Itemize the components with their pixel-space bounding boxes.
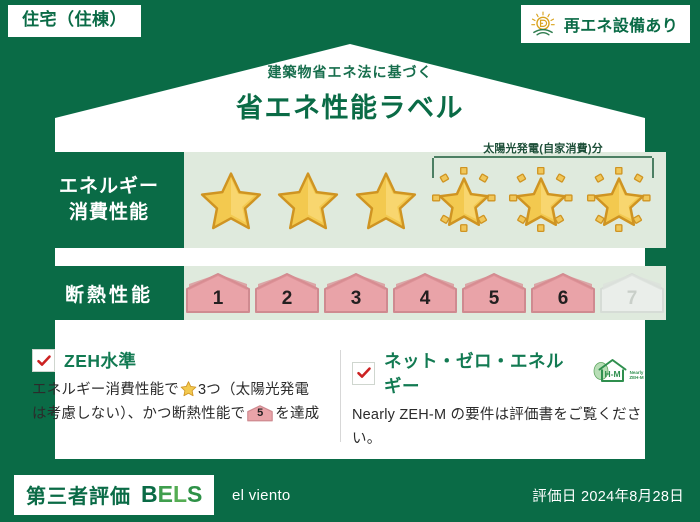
renewable-equipment-badge: 再エネ設備あり bbox=[521, 5, 690, 43]
check-nze-body: Nearly ZEH-M の要件は評価書をご覧ください。 bbox=[352, 404, 648, 452]
bels-wordmark: BELS bbox=[141, 481, 202, 508]
bels-certification-mark: 第三者評価 BELS bbox=[14, 475, 214, 515]
bels-letter-e: E bbox=[158, 481, 173, 507]
check-icon bbox=[356, 365, 372, 381]
housing-type-tag: 住宅（住棟） bbox=[8, 5, 141, 37]
label-footer: 第三者評価 BELS el viento 評価日 2024年8月28日 bbox=[0, 465, 700, 522]
star-icon-3 bbox=[351, 165, 421, 235]
checkbox-zeh-level[interactable] bbox=[32, 349, 55, 372]
insulation-grade-2: 2 bbox=[254, 272, 320, 314]
zehm-logo-sub2: ZEH-M bbox=[629, 375, 643, 380]
energy-header-line1: エネルギー bbox=[59, 174, 159, 200]
insulation-grade-6: 6 bbox=[530, 272, 596, 314]
insulation-performance-row: 断熱性能 1 2 3 4 bbox=[34, 266, 666, 320]
renewable-badge-label: 再エネ設備あり bbox=[564, 12, 678, 36]
bels-jp-label: 第三者評価 bbox=[26, 480, 131, 509]
inline-star-icon bbox=[180, 380, 197, 397]
star-icon-solar-4 bbox=[429, 165, 499, 235]
page-title: 省エネ性能ラベル bbox=[0, 86, 700, 125]
star-icon-solar-5 bbox=[506, 165, 576, 235]
star-icon-2 bbox=[273, 165, 343, 235]
bels-letter-s: S bbox=[187, 481, 202, 507]
insulation-row-body: 1 2 3 4 5 bbox=[184, 266, 666, 320]
bels-letter-l: L bbox=[173, 481, 187, 507]
grade-number: 3 bbox=[351, 288, 362, 310]
grade-number: 1 bbox=[213, 288, 224, 310]
energy-header-line2: 消費性能 bbox=[69, 200, 149, 226]
certification-checks: ZEH水準 エネルギー消費性能で3つ（太陽光発電は考慮しない）、かつ断熱性能で5… bbox=[0, 348, 700, 452]
zeh-m-logo-icon: H-M Nearly ZEH-M bbox=[586, 358, 648, 389]
sun-icon bbox=[529, 10, 557, 38]
star-icon-1 bbox=[196, 165, 266, 235]
zehm-logo-sub1: Nearly bbox=[630, 370, 644, 375]
grade-number: 5 bbox=[489, 288, 500, 310]
insulation-grade-4: 4 bbox=[392, 272, 458, 314]
check-zeh-body: エネルギー消費性能で3つ（太陽光発電は考慮しない）、かつ断熱性能で5を達成 bbox=[32, 379, 322, 427]
grade-number: 2 bbox=[282, 288, 293, 310]
energy-row-body: 太陽光発電(自家消費)分 bbox=[184, 152, 666, 248]
project-name: el viento bbox=[232, 487, 291, 504]
star-rating-group bbox=[184, 152, 666, 248]
sun-icon-svg bbox=[529, 10, 557, 38]
check-net-zero-energy: ネット・ゼロ・エネルギー H-M Nearly ZEH-M bbox=[340, 348, 670, 452]
star-icon-solar-6 bbox=[584, 165, 654, 235]
grade-number: 6 bbox=[558, 288, 569, 310]
check-zeh-level: ZEH水準 エネルギー消費性能で3つ（太陽光発電は考慮しない）、かつ断熱性能で5… bbox=[0, 348, 340, 452]
energy-performance-label: 住宅（住棟） 再エネ設備あり 建築物省エ bbox=[0, 0, 700, 522]
insulation-grade-7: 7 bbox=[599, 272, 665, 314]
zehm-logo-main: H-M bbox=[604, 369, 620, 379]
check-zeh-header: ZEH水準 bbox=[32, 348, 322, 373]
checkbox-net-zero-energy[interactable] bbox=[352, 362, 375, 385]
inline-grade-badge: 5 bbox=[247, 405, 273, 423]
bels-letter-b: B bbox=[141, 481, 158, 507]
zeh-body-post: を達成 bbox=[275, 406, 319, 422]
energy-performance-row: エネルギー 消費性能 太陽光発電(自家消費)分 bbox=[34, 152, 666, 248]
evaluation-date-value: 2024年8月28日 bbox=[581, 489, 684, 505]
insulation-row-header: 断熱性能 bbox=[34, 266, 184, 320]
check-nze-title: ネット・ゼロ・エネルギー bbox=[384, 348, 571, 398]
check-zeh-title: ZEH水準 bbox=[64, 348, 137, 373]
inline-grade-number: 5 bbox=[247, 408, 273, 419]
energy-row-header: エネルギー 消費性能 bbox=[34, 152, 184, 248]
insulation-grade-5: 5 bbox=[461, 272, 527, 314]
check-icon bbox=[36, 353, 52, 369]
grade-number: 7 bbox=[627, 288, 638, 310]
insulation-grade-3: 3 bbox=[323, 272, 389, 314]
zeh-body-pre: エネルギー消費性能で bbox=[32, 382, 179, 398]
insulation-grade-1: 1 bbox=[185, 272, 251, 314]
title-subtitle: 建築物省エネ法に基づく bbox=[0, 62, 700, 82]
grade-number: 4 bbox=[420, 288, 431, 310]
evaluation-date-label: 評価日 bbox=[532, 489, 576, 505]
insulation-grade-group: 1 2 3 4 5 bbox=[184, 266, 666, 320]
evaluation-date: 評価日 2024年8月28日 bbox=[532, 485, 684, 506]
check-nze-header: ネット・ゼロ・エネルギー H-M Nearly ZEH-M bbox=[352, 348, 648, 398]
label-title-block: 建築物省エネ法に基づく 省エネ性能ラベル bbox=[0, 62, 700, 125]
